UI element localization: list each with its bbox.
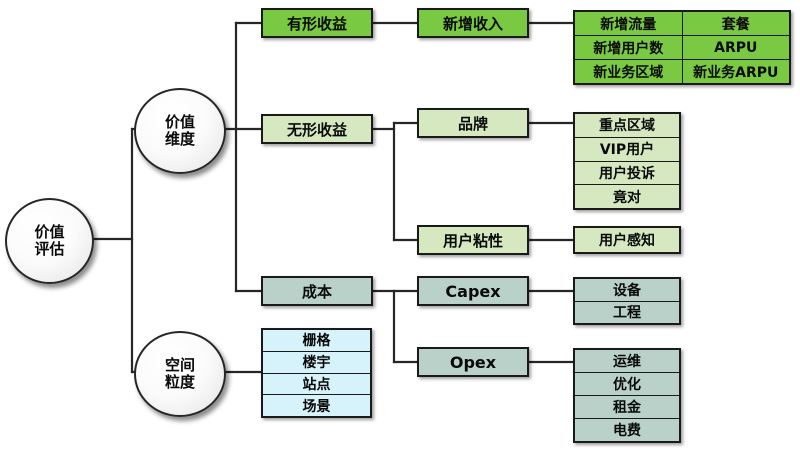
cell-user-complaint[interactable]: 用户投诉 — [575, 162, 679, 185]
group-brand-metrics: 重点区域 VIP用户 用户投诉 竟对 — [573, 112, 681, 210]
cell-optimization[interactable]: 优化 — [575, 373, 679, 395]
table-row: 楼宇 — [263, 352, 370, 374]
table-row: 新增流量 套餐 — [575, 12, 789, 36]
branch-node-space-granularity[interactable]: 空间 粒度 — [134, 331, 226, 417]
node-capex[interactable]: Capex — [417, 276, 529, 306]
cell-site[interactable]: 站点 — [263, 374, 370, 395]
root-node-value-assessment[interactable]: 价值 评估 — [5, 198, 94, 284]
table-row: 优化 — [575, 373, 679, 396]
branch-node-space-granularity-label-line1: 空间 — [165, 357, 195, 374]
cell-competitor[interactable]: 竟对 — [575, 185, 679, 208]
node-user-stickiness[interactable]: 用户粘性 — [417, 225, 529, 255]
cell-grid[interactable]: 栅格 — [263, 330, 370, 351]
node-opex[interactable]: Opex — [417, 347, 529, 377]
cell-new-traffic[interactable]: 新增流量 — [575, 12, 683, 35]
cell-rent[interactable]: 租金 — [575, 396, 679, 418]
cell-new-business-area[interactable]: 新业务区域 — [575, 60, 683, 83]
branch-node-space-granularity-label-line2: 粒度 — [165, 374, 195, 391]
table-row: 站点 — [263, 374, 370, 396]
table-row: 竟对 — [575, 185, 679, 208]
node-tangible-benefit-label: 有形收益 — [287, 13, 347, 34]
node-intangible-benefit[interactable]: 无形收益 — [261, 114, 373, 144]
cell-vip-user[interactable]: VIP用户 — [575, 138, 679, 161]
diagram-canvas: 价值 评估 价值 维度 空间 粒度 有形收益 无形收益 成本 新增收入 品牌 用… — [0, 0, 800, 450]
branch-node-value-dimension-label-line2: 维度 — [165, 131, 195, 148]
cell-user-perception[interactable]: 用户感知 — [575, 228, 679, 252]
cell-operations[interactable]: 运维 — [575, 350, 679, 372]
table-row: 新业务区域 新业务ARPU — [575, 60, 789, 83]
branch-node-value-dimension-label-line1: 价值 — [165, 114, 195, 131]
node-cost-label: 成本 — [302, 281, 332, 302]
table-row: 工程 — [575, 302, 679, 324]
node-brand-label: 品牌 — [458, 113, 488, 134]
group-opex-metrics: 运维 优化 租金 电费 — [573, 348, 681, 443]
cell-new-business-arpu[interactable]: 新业务ARPU — [683, 60, 790, 83]
node-brand[interactable]: 品牌 — [417, 108, 529, 138]
table-row: 新增用户数 ARPU — [575, 36, 789, 60]
cell-engineering[interactable]: 工程 — [575, 302, 679, 324]
table-row: 运维 — [575, 350, 679, 373]
branch-node-value-dimension[interactable]: 价值 维度 — [134, 88, 226, 174]
node-new-revenue[interactable]: 新增收入 — [417, 8, 529, 38]
table-row: 电费 — [575, 419, 679, 441]
root-node-label-line1: 价值 — [34, 224, 64, 241]
cell-equipment[interactable]: 设备 — [575, 279, 679, 301]
node-tangible-benefit[interactable]: 有形收益 — [261, 8, 373, 38]
table-row: 重点区域 — [575, 114, 679, 138]
node-cost[interactable]: 成本 — [261, 276, 373, 306]
node-new-revenue-label: 新增收入 — [443, 13, 503, 34]
cell-electricity[interactable]: 电费 — [575, 419, 679, 441]
cell-new-user-count[interactable]: 新增用户数 — [575, 36, 683, 59]
root-node-label-line2: 评估 — [34, 241, 64, 258]
node-intangible-benefit-label: 无形收益 — [287, 119, 347, 140]
table-row: VIP用户 — [575, 138, 679, 162]
group-user-stickiness-metrics: 用户感知 — [573, 226, 681, 254]
group-new-revenue-metrics: 新增流量 套餐 新增用户数 ARPU 新业务区域 新业务ARPU — [573, 10, 791, 85]
node-opex-label: Opex — [450, 353, 496, 372]
table-row: 场景 — [263, 395, 370, 416]
group-space-granularity-metrics: 栅格 楼宇 站点 场景 — [261, 328, 372, 418]
group-capex-metrics: 设备 工程 — [573, 277, 681, 325]
cell-building[interactable]: 楼宇 — [263, 352, 370, 373]
table-row: 设备 — [575, 279, 679, 302]
cell-scenario[interactable]: 场景 — [263, 395, 370, 416]
table-row: 栅格 — [263, 330, 370, 352]
node-capex-label: Capex — [445, 282, 500, 301]
node-user-stickiness-label: 用户粘性 — [443, 230, 503, 251]
cell-package[interactable]: 套餐 — [683, 12, 790, 35]
table-row: 用户感知 — [575, 228, 679, 252]
cell-key-area[interactable]: 重点区域 — [575, 114, 679, 137]
table-row: 租金 — [575, 396, 679, 419]
table-row: 用户投诉 — [575, 162, 679, 186]
cell-arpu[interactable]: ARPU — [683, 36, 790, 59]
